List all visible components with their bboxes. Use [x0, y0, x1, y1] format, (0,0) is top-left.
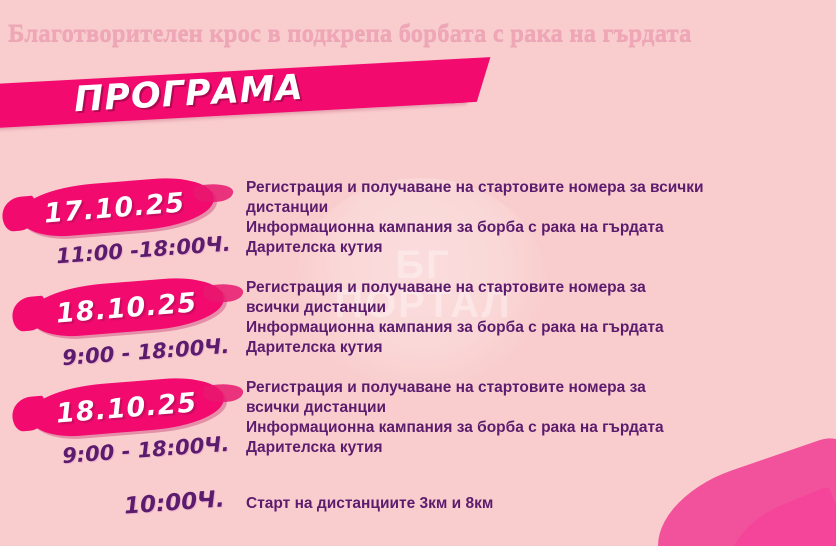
description-line: всички дистанции — [246, 298, 826, 318]
page-title: Благотворителен крос в подкрепа борбата … — [8, 19, 828, 49]
date-column: 18.10.25 9:00 - 18:00Ч. — [0, 378, 240, 478]
description-line: Дарителска кутия — [246, 238, 826, 258]
description-line: всички дистанции — [246, 398, 826, 418]
description-line: Регистрация и получаване на стартовите н… — [246, 278, 826, 298]
schedule-row: 18.10.25 9:00 - 18:00Ч. Регистрация и по… — [0, 378, 836, 478]
schedule-list: 17.10.25 11:00 -18:00Ч. Регистрация и по… — [0, 178, 836, 534]
time-label: 10:00Ч. — [123, 486, 225, 519]
time-label: 9:00 - 18:00Ч. — [61, 334, 230, 370]
description-line: Дарителска кутия — [246, 338, 826, 358]
description-line: дистанции — [246, 198, 826, 218]
description-column: Старт на дистанциите 3км и 8км — [246, 494, 826, 514]
description-column: Регистрация и получаване на стартовите н… — [246, 378, 826, 458]
date-column: 18.10.25 9:00 - 18:00Ч. — [0, 278, 240, 378]
description-column: Регистрация и получаване на стартовите н… — [246, 278, 826, 358]
description-line: Информационна кампания за борба с рака н… — [246, 418, 826, 438]
description-column: Регистрация и получаване на стартовите н… — [246, 178, 826, 258]
description-line: Регистрация и получаване на стартовите н… — [246, 178, 826, 198]
schedule-row: 18.10.25 9:00 - 18:00Ч. Регистрация и по… — [0, 278, 836, 378]
program-poster: БГ ПОРТАЛ Благотворителен крос в подкреп… — [0, 0, 836, 546]
schedule-row: 17.10.25 11:00 -18:00Ч. Регистрация и по… — [0, 178, 836, 278]
description-line: Информационна кампания за борба с рака н… — [246, 218, 826, 238]
schedule-row-start: 10:00Ч. Старт на дистанциите 3км и 8км — [0, 478, 836, 534]
description-line: Старт на дистанциите 3км и 8км — [246, 494, 826, 514]
description-line: Информационна кампания за борба с рака н… — [246, 318, 826, 338]
date-column: 17.10.25 11:00 -18:00Ч. — [0, 178, 240, 278]
description-line: Дарителска кутия — [246, 438, 826, 458]
date-column: 10:00Ч. — [0, 478, 240, 546]
time-label: 11:00 -18:00Ч. — [55, 232, 231, 269]
description-line: Регистрация и получаване на стартовите н… — [246, 378, 826, 398]
time-label: 9:00 - 18:00Ч. — [61, 432, 230, 468]
program-ribbon-label: ПРОГРАМА — [73, 66, 305, 122]
